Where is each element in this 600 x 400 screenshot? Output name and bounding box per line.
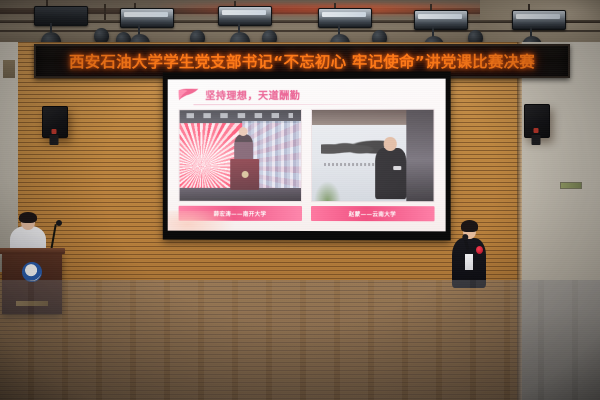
presentation-slide: 坚持理想，天道酬勤 薛宏涛——南开大学 (168, 79, 446, 232)
red-flag-icon (178, 88, 200, 101)
podium-microphone (56, 220, 62, 226)
led-banner-text: 西安石油大学学生党支部书记“不忘初心 牢记使命”讲党课比赛决赛 (69, 50, 535, 72)
slide-photo-grid: 薛宏涛——南开大学 赵蒙——云南大学 (179, 109, 435, 222)
lecture-hall-photo: 西安石油大学学生党支部书记“不忘初心 牢记使命”讲党课比赛决赛 坚持理想，天道酬… (0, 0, 600, 400)
left-wall-speaker (42, 106, 66, 136)
presenter-badge (476, 246, 483, 254)
presenter-hair (461, 220, 478, 232)
slide-header: 坚持理想，天道酬勤 (178, 87, 301, 102)
slide-photo-left (179, 109, 302, 202)
slide-divider (193, 104, 403, 105)
lighting-truss (0, 20, 600, 23)
host-hair (19, 212, 37, 223)
left-wall-vent (3, 60, 15, 78)
lighting-truss-secondary (0, 30, 600, 32)
slide-corner-accent (168, 211, 235, 232)
slide-photo-item: 薛宏涛——南开大学 (179, 109, 302, 221)
ceiling (0, 0, 600, 46)
seated-audience (0, 268, 600, 400)
slide-title: 坚持理想，天道酬勤 (205, 87, 300, 102)
podium-top (0, 248, 65, 254)
right-wall-speaker (524, 104, 548, 136)
projection-screen: 坚持理想，天道酬勤 薛宏涛——南开大学 (163, 72, 451, 241)
auditorium-seats (0, 280, 600, 400)
slide-photo-caption: 赵蒙——云南大学 (310, 206, 434, 221)
right-wall-sign (560, 182, 582, 189)
slide-photo-right (310, 109, 434, 202)
slide-photo-caption-text: 赵蒙——云南大学 (349, 210, 396, 218)
slide-photo-item: 赵蒙——云南大学 (310, 109, 434, 222)
